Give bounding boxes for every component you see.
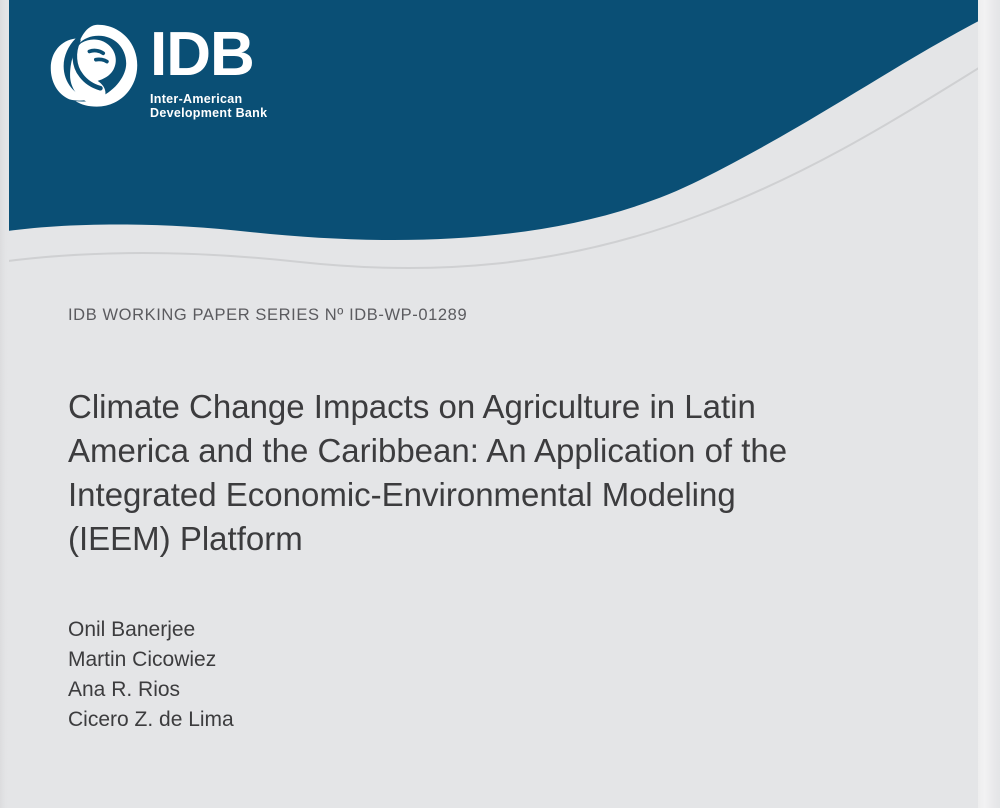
author-name: Ana R. Rios [68,675,888,705]
author-list: Onil Banerjee Martin Cicowiez Ana R. Rio… [68,615,888,735]
idb-logo: IDB Inter-American Development Bank [48,22,267,120]
idb-wordmark-block: IDB Inter-American Development Bank [150,22,267,120]
working-paper-series-label: IDB WORKING PAPER SERIES Nº IDB-WP-01289 [68,306,888,325]
author-name: Martin Cicowiez [68,645,888,675]
author-name: Onil Banerjee [68,615,888,645]
title-line: (IEEM) Platform [68,517,858,561]
page-left-edge [0,0,9,808]
organization-name: Inter-American Development Bank [150,92,267,120]
cover-content: IDB WORKING PAPER SERIES Nº IDB-WP-01289… [68,306,888,735]
page-title: Climate Change Impacts on Agriculture in… [68,385,858,561]
title-line: America and the Caribbean: An Applicatio… [68,429,858,473]
author-name: Cicero Z. de Lima [68,705,888,735]
idb-wordmark: IDB [150,24,267,86]
document-cover-page: IDB Inter-American Development Bank IDB … [0,0,1000,808]
idb-globe-americas-logo-icon [48,22,140,114]
title-line: Integrated Economic-Environmental Modeli… [68,473,858,517]
page-right-edge [978,0,1000,808]
title-line: Climate Change Impacts on Agriculture in… [68,385,858,429]
